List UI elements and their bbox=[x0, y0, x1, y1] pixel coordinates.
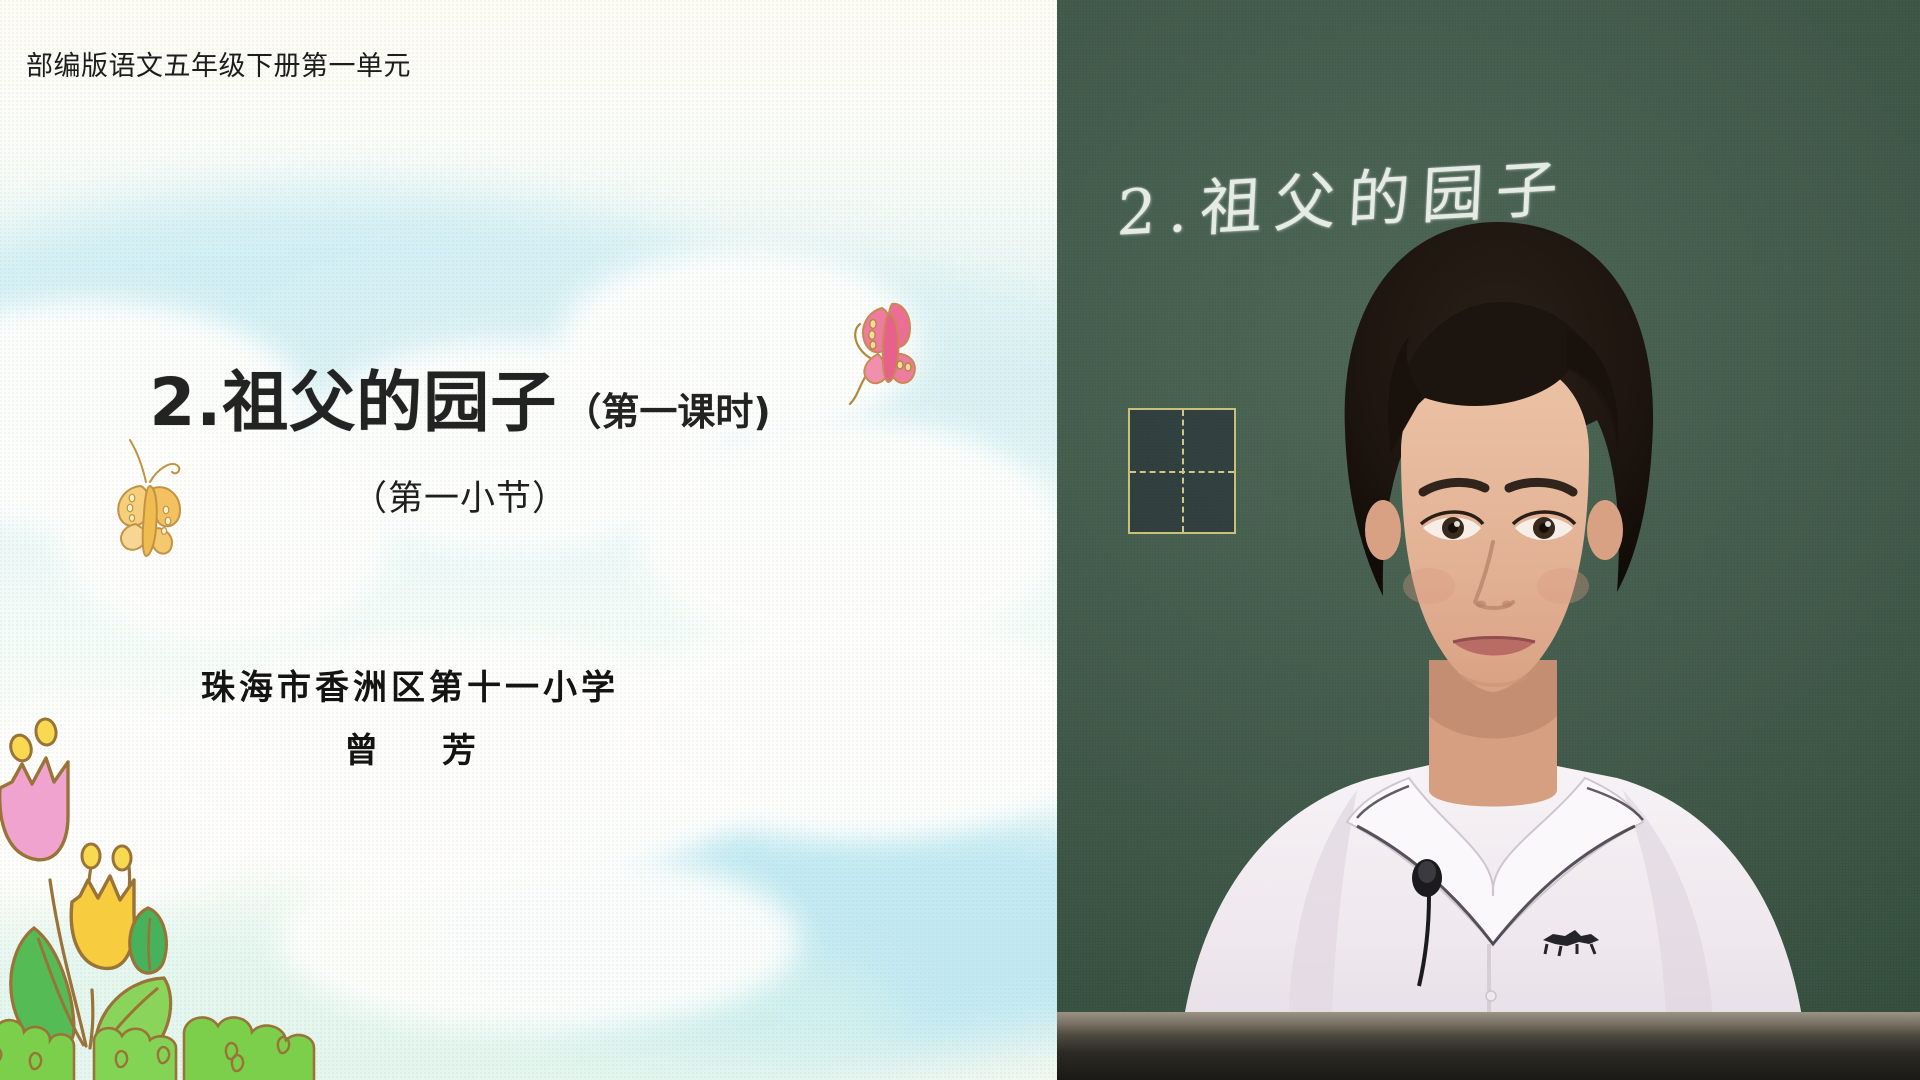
slide-credits: 珠海市香洲区第十一小学 曾 芳 bbox=[0, 660, 820, 772]
slide-header-text: 部编版语文五年级下册第一单元 bbox=[26, 44, 411, 83]
yellow-tulip-icon bbox=[71, 876, 134, 968]
teacher-figure bbox=[1057, 0, 1920, 1080]
slide-title-row: 2.祖父的园子 （第一课时) bbox=[0, 370, 920, 436]
slide-title-block: 2.祖父的园子 （第一课时) （第一小节） bbox=[0, 370, 920, 521]
chalkboard-ledge bbox=[1057, 1012, 1920, 1080]
school-name: 珠海市香洲区第十一小学 bbox=[0, 660, 820, 709]
teacher-name: 曾 芳 bbox=[0, 723, 820, 772]
lesson-video-screen: 部编版语文五年级下册第一单元 bbox=[0, 0, 1920, 1080]
cloud-shape bbox=[280, 850, 800, 1030]
page-title: 2.祖父的园子 bbox=[149, 370, 557, 436]
classroom-video-panel: 2.祖父的园子 bbox=[1057, 0, 1920, 1080]
title-session-label: （第一课时) bbox=[563, 393, 770, 431]
presentation-slide: 部编版语文五年级下册第一单元 bbox=[0, 0, 1057, 1080]
slide-subtitle: （第一小节） bbox=[0, 470, 920, 521]
pink-tulip-icon bbox=[0, 758, 68, 860]
